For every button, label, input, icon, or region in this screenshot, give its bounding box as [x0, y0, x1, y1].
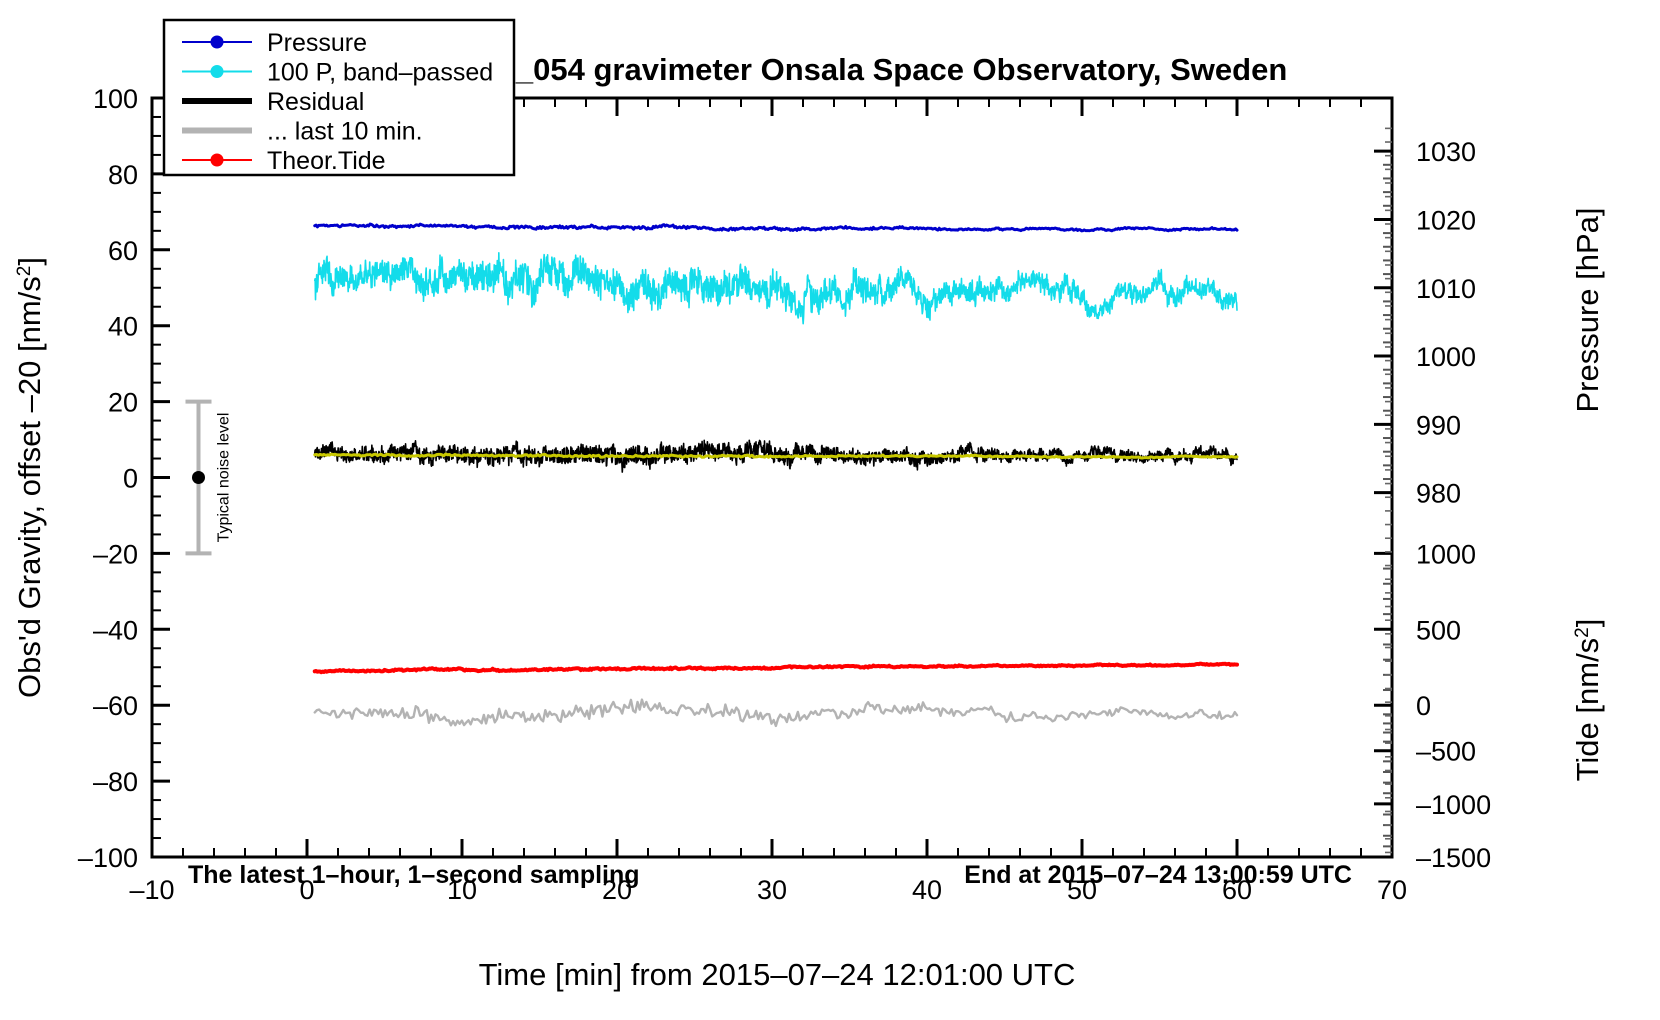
noise-bar-center-dot — [192, 471, 205, 484]
pressure-tick-label: 990 — [1416, 410, 1461, 440]
tide-tick-label: –1500 — [1416, 843, 1491, 873]
end-time-note: End at 2015–07–24 13:00:59 UTC — [964, 861, 1352, 889]
y-tick-label: 20 — [108, 388, 138, 418]
pressure-tick-label: 1020 — [1416, 205, 1476, 235]
chart-title: SCG_054 gravimeter Onsala Space Observat… — [449, 52, 1288, 87]
gravimeter-time-series-plot: –10010203040506070–100–80–60–40–20020406… — [0, 0, 1660, 1020]
legend-marker-dot — [211, 65, 224, 78]
y-tick-label: –40 — [93, 615, 138, 645]
noise-level-label: Typical noise level — [216, 413, 233, 543]
legend-label: Residual — [267, 88, 364, 116]
plot-frame — [152, 98, 1392, 857]
y-axis-right-pressure-title: Pressure [hPa] — [1570, 207, 1605, 412]
x-tick-label: 70 — [1377, 875, 1407, 905]
y-tick-label: 100 — [93, 84, 138, 114]
legend-label: 100 P, band–passed — [267, 59, 493, 87]
y-axis-right-tide-title: Tide [nm/s2] — [1570, 619, 1605, 782]
pressure-tick-label: 1010 — [1416, 274, 1476, 304]
y-tick-label: 60 — [108, 236, 138, 266]
pressure-tick-label: 980 — [1416, 479, 1461, 509]
x-axis-title: Time [min] from 2015–07–24 12:01:00 UTC — [479, 957, 1076, 992]
chart-canvas: –10010203040506070–100–80–60–40–20020406… — [0, 0, 1660, 1020]
tide-tick-label: 1000 — [1416, 539, 1476, 569]
tide-tick-label: 500 — [1416, 615, 1461, 645]
y-axis-left-title: Obs'd Gravity, offset –20 [nm/s2] — [12, 257, 47, 698]
y-tick-label: 0 — [123, 464, 138, 494]
y-tick-label: 40 — [108, 312, 138, 342]
x-tick-label: 40 — [912, 875, 942, 905]
pressure-tick-label: 1000 — [1416, 342, 1476, 372]
tide-tick-label: –1000 — [1416, 790, 1491, 820]
legend-label: ... last 10 min. — [267, 118, 423, 146]
legend-marker-dot — [211, 154, 224, 167]
y-tick-label: –100 — [78, 843, 138, 873]
y-tick-label: –60 — [93, 691, 138, 721]
x-tick-label: 30 — [757, 875, 787, 905]
y-tick-label: 80 — [108, 160, 138, 190]
legend-label: Theor.Tide — [267, 147, 386, 175]
legend-label: Pressure — [267, 29, 367, 57]
legend[interactable]: Pressure100 P, band–passedResidual... la… — [164, 20, 514, 175]
x-tick-label: –10 — [129, 875, 174, 905]
tide-tick-label: –500 — [1416, 737, 1476, 767]
y-tick-label: –20 — [93, 539, 138, 569]
pressure-tick-label: 1030 — [1416, 137, 1476, 167]
sampling-note: The latest 1–hour, 1–second sampling — [188, 861, 640, 889]
legend-marker-dot — [211, 36, 224, 49]
tide-tick-label: 0 — [1416, 691, 1431, 721]
y-tick-label: –80 — [93, 767, 138, 797]
